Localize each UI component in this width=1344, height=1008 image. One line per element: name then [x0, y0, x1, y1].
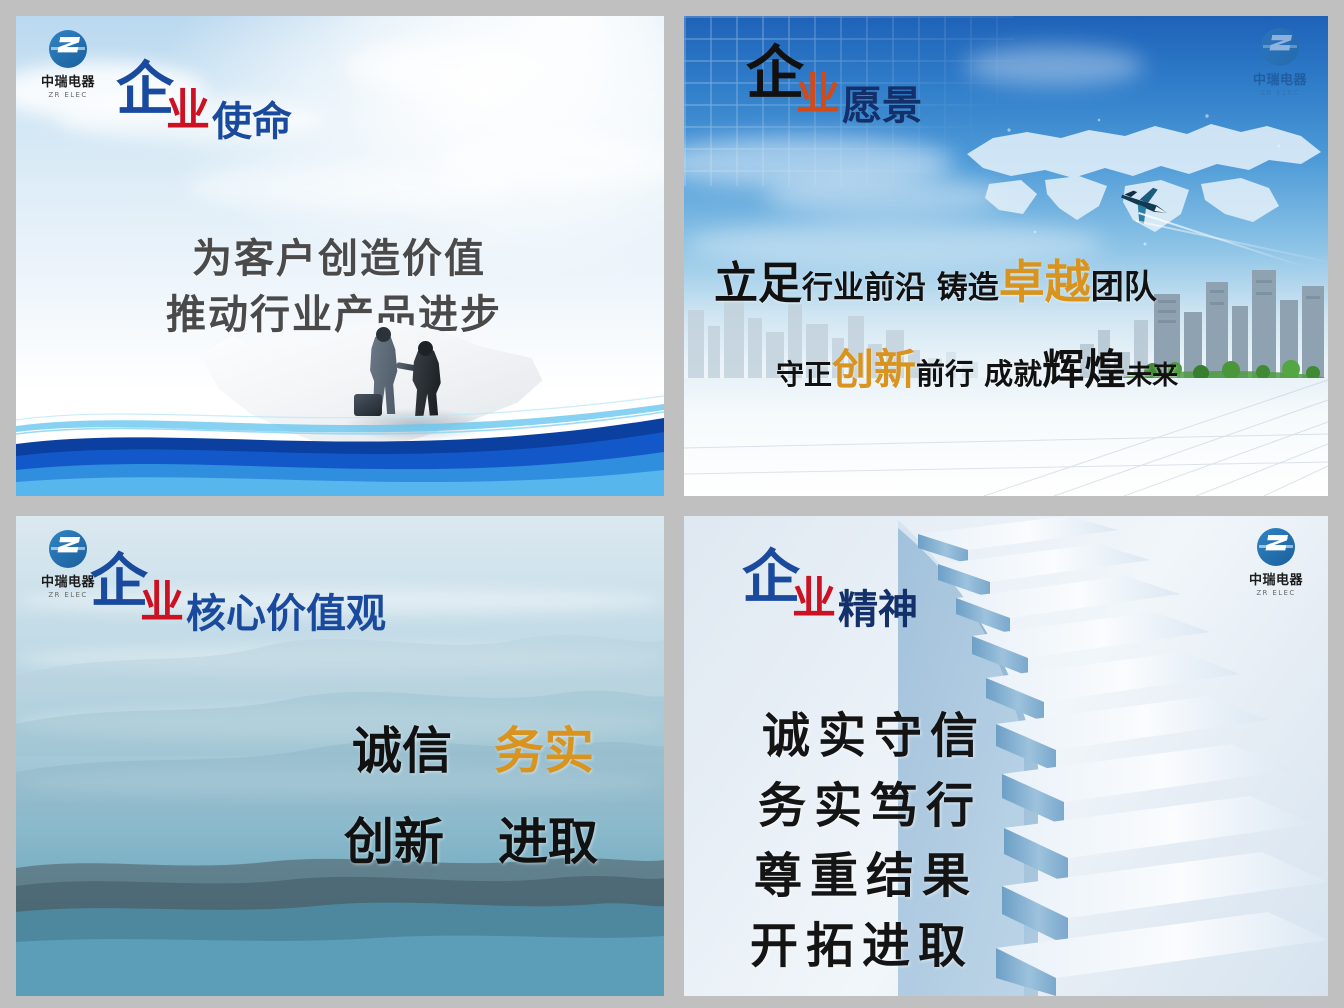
seg: 进取: [498, 813, 598, 871]
slides-board: 中瑞电器 ZR ELEC 企业使命 为客户创造价值 推动行业产品进步: [0, 0, 1344, 1008]
vision-line-2: 守正创新前行 成就辉煌未来: [776, 336, 1178, 397]
seg: 未来: [1126, 361, 1178, 391]
seg: 辉煌: [1042, 345, 1126, 394]
seg-accent: 创新: [832, 345, 916, 394]
company-logo: 中瑞电器 ZR ELEC: [1242, 28, 1318, 97]
logo-en-text: ZR ELEC: [1242, 89, 1318, 97]
spirit-line-4: 开拓进取: [750, 906, 974, 976]
corevalue-line-2: 创新进取: [344, 802, 598, 874]
title-char-ye: 业: [166, 85, 210, 136]
spirit-line-2: 务实笃行: [758, 766, 982, 836]
title-char-ye: 业: [796, 69, 840, 120]
vision-line-1: 立足行业前沿 铸造卓越团队: [714, 246, 1157, 312]
seg-accent: 务实: [494, 722, 594, 780]
page-title: 企业使命: [116, 60, 298, 118]
cloud-shape: [964, 46, 1144, 86]
seg: 诚信: [352, 722, 452, 780]
title-rest: 精神: [838, 587, 918, 633]
logo-en-text: ZR ELEC: [1238, 589, 1314, 597]
seg: 铸造: [926, 270, 999, 306]
title-char-ye: 业: [140, 577, 184, 628]
page-title: 企业愿景: [746, 44, 928, 102]
zr-monogram-icon: [1261, 28, 1299, 66]
corevalue-line-1: 诚信务实: [352, 711, 594, 783]
cloud-shape: [346, 42, 546, 92]
mission-line-1: 为客户创造价值: [192, 226, 486, 284]
title-rest: 核心价值观: [186, 591, 386, 637]
title-rest: 愿景: [842, 83, 922, 129]
logo-cn-text: 中瑞电器: [1238, 569, 1314, 588]
seg: 立足: [714, 258, 802, 309]
seg: 团队: [1091, 267, 1157, 306]
company-logo: 中瑞电器 ZR ELEC: [1238, 528, 1314, 597]
zr-monogram-icon: [1257, 528, 1295, 566]
zr-monogram-icon: [49, 530, 87, 568]
page-title: 企业核心价值观: [90, 552, 392, 610]
company-logo: 中瑞电器 ZR ELEC: [30, 30, 106, 99]
blue-wave-ribbons: [16, 370, 664, 496]
logo-en-text: ZR ELEC: [30, 91, 106, 99]
slide-mission[interactable]: 中瑞电器 ZR ELEC 企业使命 为客户创造价值 推动行业产品进步: [16, 16, 664, 496]
spirit-line-3: 尊重结果: [754, 836, 978, 906]
slide-spirit[interactable]: 中瑞电器 ZR ELEC 企业精神 诚实守信 务实笃行 尊重结果 开拓进取: [684, 516, 1328, 996]
seg: 前行: [916, 357, 974, 391]
zr-monogram-icon: [49, 30, 87, 68]
seg: 守正: [776, 358, 832, 391]
seg: 创新: [344, 813, 444, 871]
logo-cn-text: 中瑞电器: [30, 71, 106, 90]
page-title: 企业精神: [742, 548, 924, 606]
seg: 成就: [974, 357, 1042, 391]
title-char-ye: 业: [792, 573, 836, 624]
seg: 行业前沿: [802, 270, 926, 306]
seg-accent: 卓越: [999, 255, 1091, 309]
slide-vision[interactable]: 中瑞电器 ZR ELEC 企业愿景 立足行业前沿 铸造卓越团队 守正创新前行 成…: [684, 16, 1328, 496]
spirit-line-1: 诚实守信: [762, 696, 986, 766]
logo-cn-text: 中瑞电器: [1242, 69, 1318, 88]
title-rest: 使命: [212, 99, 292, 145]
slide-core-values[interactable]: 中瑞电器 ZR ELEC 企业核心价值观 诚信务实 创新进取: [16, 516, 664, 996]
